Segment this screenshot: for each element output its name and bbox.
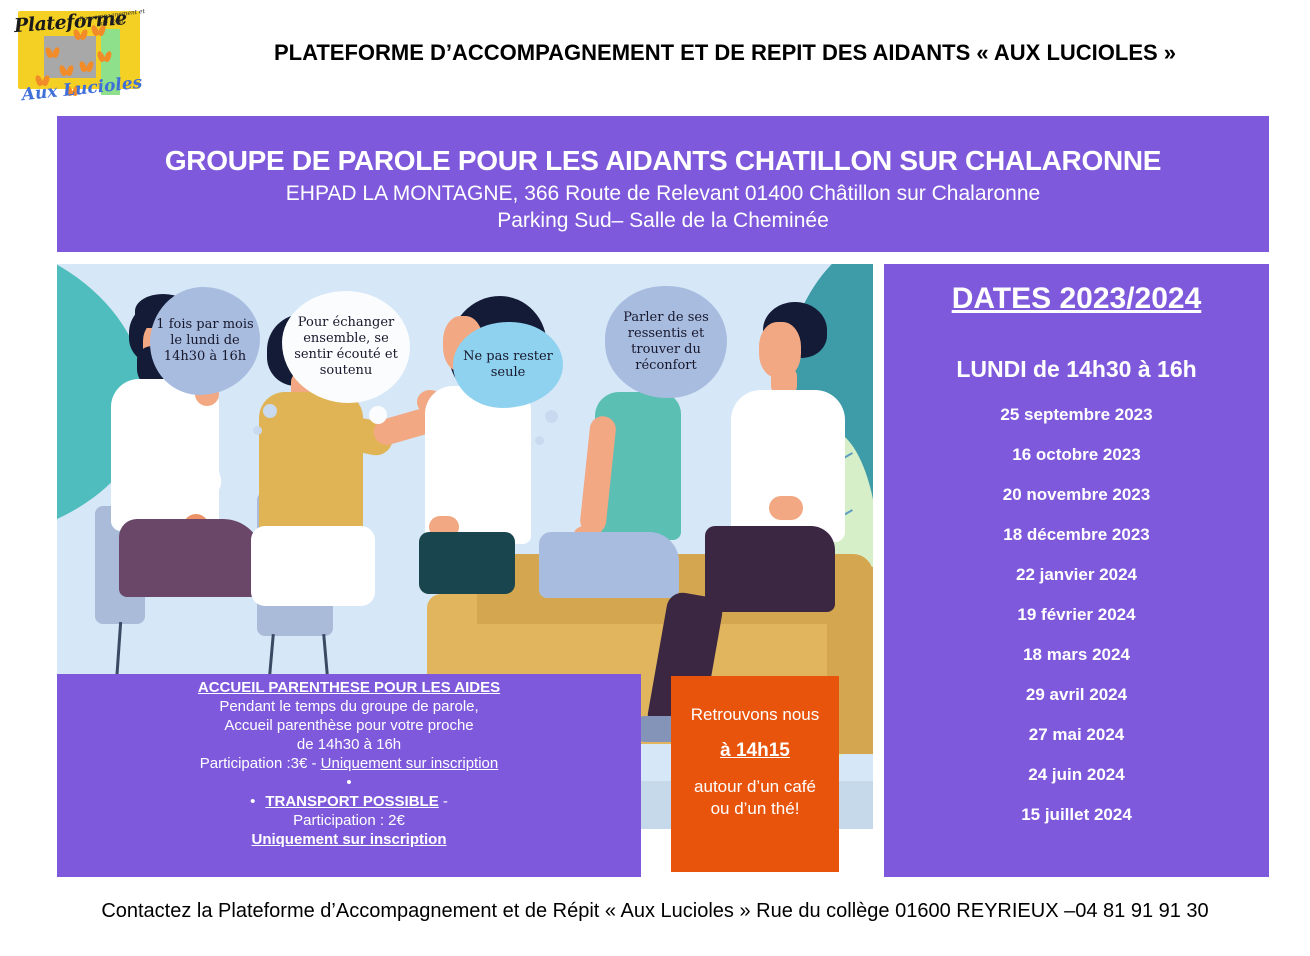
date-item: 16 octobre 2023: [884, 445, 1269, 465]
shorts: [419, 532, 515, 594]
thought-dot: [545, 410, 558, 423]
date-item: 29 avril 2024: [884, 685, 1269, 705]
dates-subtitle: LUNDI de 14h30 à 16h: [884, 356, 1269, 383]
trousers: [119, 519, 263, 597]
transport-bullet: •: [250, 792, 255, 811]
date-item: 19 février 2024: [884, 605, 1269, 625]
transport-row: • TRANSPORT POSSIBLE -: [57, 792, 641, 811]
butterfly-icon: [46, 47, 59, 58]
page-header: Plateforme d’accompagnement et de répit …: [0, 0, 1310, 114]
banner-line-2: EHPAD LA MONTAGNE, 366 Route de Relevant…: [57, 180, 1269, 207]
banner-line-1: GROUPE DE PAROLE POUR LES AIDANTS CHATIL…: [57, 144, 1269, 178]
dates-list: 25 septembre 202316 octobre 202320 novem…: [884, 405, 1269, 825]
trousers: [251, 526, 375, 606]
transport-label: TRANSPORT POSSIBLE: [265, 793, 438, 810]
date-item: 15 juillet 2024: [884, 805, 1269, 825]
thought-dot: [263, 404, 277, 418]
orangebox-line-3: autour d’un café: [671, 776, 839, 798]
orangebox-time: à 14h15: [671, 740, 839, 762]
infobox-registration-note: Uniquement sur inscription: [321, 755, 499, 772]
butterfly-icon: [60, 65, 73, 76]
banner-line-3: Parking Sud– Salle de la Cheminée: [57, 207, 1269, 234]
thought-dot: [253, 426, 262, 435]
date-item: 24 juin 2024: [884, 765, 1269, 785]
thought-dot: [535, 436, 544, 445]
orangebox-line-4: ou d’un thé!: [671, 798, 839, 820]
thought-bubble-1: 1 fois par mois le lundi de 14h30 à 16h: [150, 287, 260, 395]
dates-title: DATES 2023/2024: [884, 282, 1269, 316]
butterfly-icon: [80, 61, 93, 72]
orangebox-line-1: Retrouvons nous: [671, 704, 839, 726]
butterfly-icon: [98, 51, 111, 62]
date-item: 18 mars 2024: [884, 645, 1269, 665]
infobox-line-3: de 14h30 à 16h: [57, 735, 641, 754]
date-item: 18 décembre 2023: [884, 525, 1269, 545]
page-title: PLATEFORME D’ACCOMPAGNEMENT ET DE REPIT …: [170, 40, 1280, 66]
infobox-bullet-separator: •: [57, 773, 641, 792]
thought-dot: [369, 406, 387, 424]
transport-participation: Participation : 2€: [57, 811, 641, 830]
infobox-heading: ACCUEIL PARENTHESE POUR LES AIDES: [57, 678, 641, 697]
infobox-participation-prefix: Participation :3€ -: [200, 755, 321, 772]
accueil-parenthese-box: ACCUEIL PARENTHESE POUR LES AIDES Pendan…: [57, 674, 641, 877]
transport-suffix: -: [439, 793, 448, 810]
contact-footer: Contactez la Plateforme d’Accompagnement…: [0, 900, 1310, 923]
dates-panel: DATES 2023/2024 LUNDI de 14h30 à 16h 25 …: [884, 264, 1269, 877]
title-banner: GROUPE DE PAROLE POUR LES AIDANTS CHATIL…: [57, 116, 1269, 252]
thought-bubble-4: Parler de ses ressentis et trouver du ré…: [605, 286, 727, 398]
infobox-line-2: Accueil parenthèse pour votre proche: [57, 716, 641, 735]
transport-registration-note: Uniquement sur inscription: [57, 830, 641, 849]
spacer: [671, 762, 839, 776]
date-item: 22 janvier 2024: [884, 565, 1269, 585]
date-item: 25 septembre 2023: [884, 405, 1269, 425]
spacer: [671, 726, 839, 740]
trousers: [539, 532, 679, 598]
thought-bubble-3: Ne pas rester seule: [453, 322, 563, 408]
infobox-participation-row: Participation :3€ - Uniquement sur inscr…: [57, 754, 641, 773]
transport-label-wrap: TRANSPORT POSSIBLE -: [265, 792, 448, 811]
organisation-logo: Plateforme d’accompagnement et de répit …: [8, 3, 156, 111]
meeting-time-box: Retrouvons nous à 14h15 autour d’un café…: [671, 676, 839, 872]
hands: [769, 496, 803, 520]
date-item: 27 mai 2024: [884, 725, 1269, 745]
trousers: [705, 526, 835, 612]
date-item: 20 novembre 2023: [884, 485, 1269, 505]
infobox-line-1: Pendant le temps du groupe de parole,: [57, 697, 641, 716]
